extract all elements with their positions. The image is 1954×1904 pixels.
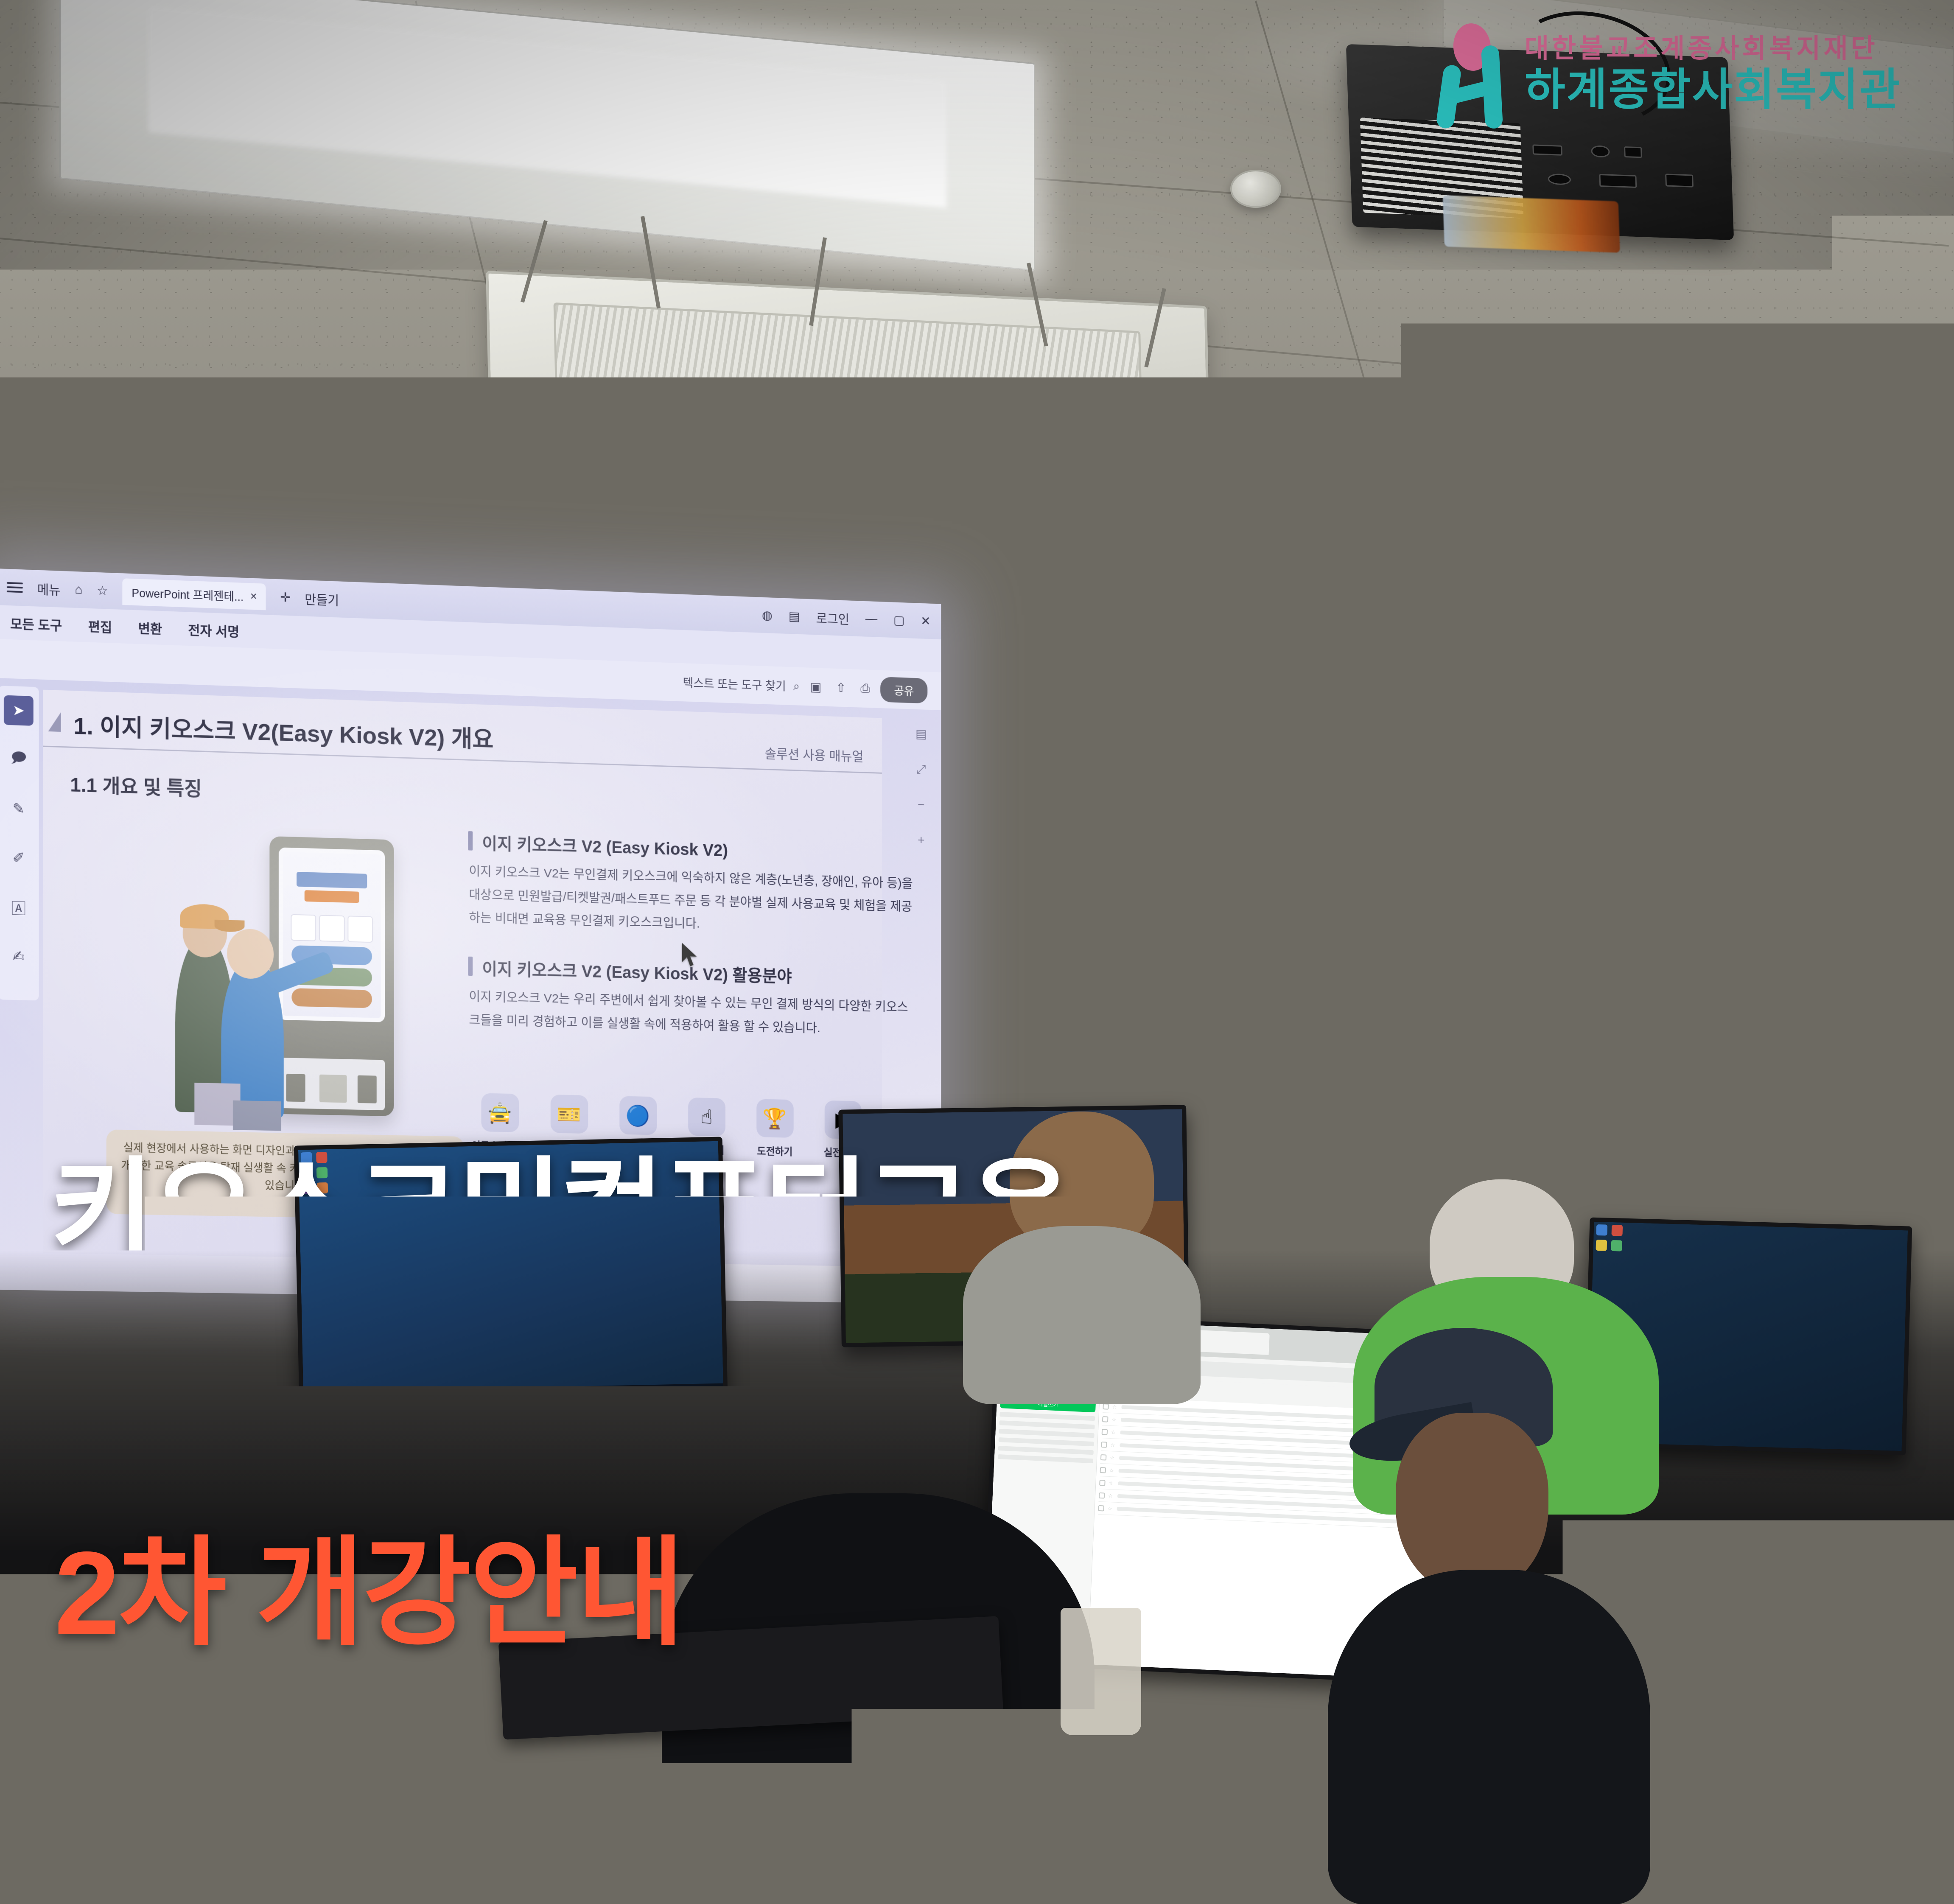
kiosk-product-cell[interactable]: ⌕ (1547, 1000, 1615, 1061)
logo-center-line: 하계종합사회복지관 (1525, 68, 1901, 112)
kiosk-pagination: ‹ 이전 다음 › (1335, 1064, 1619, 1094)
kiosk-header: 학습 종료 메가커피 자유학습 🔊 음성안내 (1332, 810, 1616, 853)
sound-label: 음성안내 (1592, 839, 1614, 848)
desktop-icon-grid (1596, 1224, 1623, 1252)
new-tab-label[interactable]: 만들기 (305, 589, 339, 609)
student-body-dark (1328, 1570, 1650, 1904)
magnify-icon[interactable]: ⌕ (1537, 1004, 1542, 1014)
drink-cup-icon (1363, 953, 1380, 983)
wall-outlet (1833, 967, 1888, 1008)
student-head-capped (1396, 1413, 1548, 1595)
folder-item[interactable] (999, 1412, 1095, 1421)
kiosk-category[interactable]: 음료 (1475, 893, 1511, 905)
magnify-icon[interactable]: ⌕ (1397, 1006, 1403, 1016)
drink-cup-icon (1363, 1016, 1381, 1046)
home-label: 처음으로 (1352, 865, 1378, 876)
power-label: 학습 종료 (1334, 843, 1358, 851)
kiosk-category[interactable]: 디카페인 (1439, 894, 1475, 906)
taxi-icon: 🚖 (481, 1093, 519, 1132)
block-body: 이지 키오스크 V2는 무인결제 키오스크에 익숙하지 않은 계층(노년층, 장… (469, 860, 915, 941)
touch-icon: ☝ (688, 1098, 725, 1137)
headline-line-1: 키오스크및컴퓨터교육 (50, 1154, 1408, 1270)
folder-item[interactable] (999, 1429, 1094, 1438)
ceiling-speaker-icon (1727, 352, 1867, 428)
block-heading: 이지 키오스크 V2 (Easy Kiosk V2) 활용분야 (482, 955, 792, 987)
upload-icon[interactable]: ⇧ (836, 680, 846, 695)
zoom-out-icon[interactable]: − (918, 798, 925, 812)
textbox-tool-icon[interactable]: 🄰 (4, 892, 34, 923)
star-icon[interactable]: ☆ (97, 583, 108, 598)
block-accent-bar (468, 957, 473, 976)
save-icon[interactable]: ▣ (810, 680, 821, 694)
zoom-in-icon[interactable]: + (918, 833, 925, 848)
acrobat-right-toolbar: ▤ ⤢ − + (907, 726, 935, 848)
kiosk-product-cell[interactable]: ⌕ 우리 아메리카노 1,800원 (1407, 939, 1475, 1000)
magnify-icon[interactable]: ⌕ (1467, 1005, 1472, 1015)
illustration-kiosk-base (279, 1058, 385, 1110)
slide-illustration (144, 828, 427, 1129)
hamburger-menu-icon[interactable] (7, 580, 23, 595)
pen-tool-icon[interactable]: ✎ (4, 794, 34, 824)
kiosk-selected-row: 선택한 상품 0 개 (1473, 1128, 1613, 1146)
folder-item[interactable] (999, 1420, 1095, 1429)
glasses-icon (1184, 891, 1265, 915)
kiosk-language-button[interactable]: 🌐 LANGUAGE (1547, 860, 1611, 876)
exit-sign: EXIT (1701, 670, 1828, 717)
kiosk-category[interactable]: 커피 (1404, 895, 1440, 907)
share-button[interactable]: 공유 (880, 677, 927, 703)
search-placeholder: 텍스트 또는 도구 찾기 (683, 674, 786, 694)
kiosk-active-tab-row: 신메뉴 (1333, 910, 1617, 938)
selected-label: 선택한 상품 (1473, 1133, 1514, 1145)
ticket-icon: 🎫 (550, 1095, 588, 1134)
drink-cup-icon (1503, 1014, 1520, 1044)
kiosk-product-cell[interactable]: ⌕ (1408, 1002, 1475, 1063)
maximize-button[interactable]: ▢ (893, 613, 905, 627)
drink-cup-icon (1502, 951, 1519, 981)
kiosk-brand-name: 메가엠지씨커피 (1433, 860, 1516, 879)
kiosk-brand-bar: ⌂ 처음으로 메가엠지씨커피 🌐 LANGUAGE (1333, 849, 1616, 889)
kiosk-category[interactable]: 추천메뉴 (1369, 895, 1404, 907)
organization-logo: 대한불교조계종사회복지재단 하계종합사회복지관 (1437, 14, 1938, 133)
monitor-base (437, 1476, 573, 1494)
menu-item-esign[interactable]: 전자 서명 (188, 619, 239, 640)
menu-label[interactable]: 메뉴 (37, 579, 61, 599)
signin-button[interactable]: 로그인 (816, 608, 849, 627)
monitor-stand (479, 1436, 526, 1483)
signature-tool-icon[interactable]: ✍ (4, 941, 34, 972)
slide-title: 1. 이지 키오스크 V2(Easy Kiosk V2) 개요 (73, 707, 493, 755)
selected-count: 0 개 (1598, 1131, 1613, 1144)
language-label: LANGUAGE (1565, 863, 1605, 872)
close-icon[interactable]: × (250, 590, 257, 603)
help-circle-icon[interactable]: ◍ (762, 608, 773, 623)
kiosk-title: 메가커피 자유학습 (1417, 820, 1531, 843)
home-icon: ⌂ (1344, 867, 1348, 875)
kiosk-product-cell[interactable]: ⌕ (1478, 1001, 1545, 1062)
kiosk-product-cell[interactable]: ⌕ 아이스 아메리카노 1,500원 (1337, 940, 1405, 1001)
product-price: 2,000원 (1478, 989, 1544, 997)
kiosk-category[interactable]: 신메뉴 (1333, 896, 1369, 907)
ceiling-aircon-unit (486, 271, 1211, 510)
bell-icon[interactable]: ▤ (789, 609, 800, 624)
headline-line-2: (오전반 / 오후반) (50, 1271, 1408, 1386)
illustration-kiosk-screen (279, 847, 385, 1022)
order-icon: 🔵 (619, 1096, 657, 1135)
fit-page-icon[interactable]: ⤢ (916, 762, 926, 777)
slide-triangle-decor (48, 712, 61, 732)
kiosk-product-cell[interactable]: ⌕ 콜드브루 아메리카노 2,000원 (1477, 938, 1545, 1000)
menu-item-edit[interactable]: 편집 (88, 616, 112, 636)
folder-item[interactable] (998, 1454, 1093, 1463)
magnify-icon[interactable]: ⌕ (1397, 943, 1402, 953)
category-badge: 하계소식 ㅣ 1팀사업 (8, 1693, 904, 1820)
comment-tool-icon[interactable]: 🗩 (4, 745, 34, 775)
kiosk-product-cell[interactable]: ⌕ (1338, 1003, 1406, 1064)
folder-item[interactable] (999, 1437, 1094, 1446)
headline-line-3: 2차 개강안내 (54, 1498, 683, 1668)
kiosk-category[interactable]: 통도 (1546, 893, 1582, 904)
kiosk-prev-button[interactable]: ‹ 이전 (1341, 1071, 1376, 1090)
poster-headline: 키오스크및컴퓨터교육 (오전반 / 오후반) (50, 1154, 1408, 1387)
search-icon[interactable]: ⌕ (793, 679, 800, 693)
magnify-icon[interactable]: ⌕ (1607, 1003, 1612, 1013)
menu-item-convert[interactable]: 변환 (138, 618, 162, 638)
illustration-legs-b (233, 1100, 281, 1131)
pay-label: 주문 / 결제하기 (1501, 1154, 1550, 1166)
product-price: 1,800원 (1408, 990, 1475, 998)
print-icon[interactable]: ⎙ (860, 681, 870, 696)
block-heading: 이지 키오스크 V2 (Easy Kiosk V2) (482, 830, 728, 861)
wall-outlet (1833, 908, 1888, 949)
trophy-icon: 🏆 (756, 1099, 793, 1138)
magnify-icon[interactable]: ⌕ (1536, 941, 1541, 951)
kiosk-active-tab[interactable]: 신메뉴 (1333, 913, 1442, 938)
projector-ports (1528, 138, 1714, 207)
block-accent-bar (468, 831, 473, 851)
slide-subtitle: 1.1 개요 및 특징 (70, 769, 202, 801)
kiosk-category[interactable]: 상품 (1582, 892, 1617, 904)
kiosk-next-button[interactable]: 다음 › (1579, 1068, 1614, 1086)
tab-title: PowerPoint 프레젠테... (132, 583, 244, 604)
wall-outlet (1761, 963, 1816, 1004)
magnify-icon[interactable]: ⌕ (1467, 942, 1472, 952)
kiosk-home-button[interactable]: ⌂ 처음으로 (1338, 862, 1384, 880)
magnify-icon[interactable]: ⌕ (1606, 941, 1611, 950)
pay-cup-icon (1479, 1151, 1497, 1169)
search-field[interactable]: 텍스트 또는 도구 찾기 ⌕ (683, 674, 800, 695)
drink-cup-icon (1433, 1015, 1450, 1045)
smoke-detector-icon (1230, 170, 1281, 208)
panel-toggle-icon[interactable]: ▤ (915, 727, 927, 742)
paper-cup (1061, 1608, 1141, 1735)
speaker-icon[interactable]: 🔊 (1587, 815, 1610, 839)
drink-cup-icon (1573, 1013, 1590, 1043)
slide-manual-tag: 솔루션 사용 매뉴얼 (765, 743, 864, 765)
document-tab[interactable]: PowerPoint 프레젠테... × (123, 578, 266, 610)
globe-icon: 🌐 (1553, 864, 1562, 872)
acrobat-left-toolbar: ➤ 🗩 ✎ ✐ 🄰 ✍ (0, 686, 39, 1000)
projector-lens (1443, 195, 1620, 252)
kiosk-product-cell[interactable]: ⌕ 헤이즐넛 아메리카노 1,900원 (1546, 937, 1614, 998)
kiosk-product-grid: ⌕ 아이스 아메리카노 1,500원 ⌕ 우리 아메리카노 1,800원 ⌕ (1334, 934, 1619, 1067)
badge-label: 하계소식 ㅣ 1팀사업 (85, 1717, 535, 1796)
folder-item[interactable] (998, 1446, 1094, 1455)
kiosk-pay-button[interactable]: 주문 / 결제하기 (1473, 1146, 1614, 1173)
h-figure-logo-icon (1437, 21, 1518, 127)
home-icon[interactable]: ⌂ (75, 582, 82, 597)
logo-org-line: 대한불교조계종사회복지재단 (1525, 36, 1901, 62)
minimize-button[interactable]: — (865, 612, 877, 626)
wall-outlet (1761, 904, 1816, 944)
badge-dot-icon (806, 1742, 836, 1771)
power-icon[interactable] (1338, 819, 1361, 842)
product-price: 1,900원 (1548, 988, 1614, 996)
kiosk-screen[interactable]: 학습 종료 메가커피 자유학습 🔊 음성안내 ⌂ 처음으로 메가엠지씨커피 🌐 … (1332, 810, 1621, 1198)
select-tool-icon[interactable]: ➤ (4, 695, 34, 726)
plus-icon[interactable]: ✛ (280, 590, 291, 605)
kiosk-category-bar: 신메뉴 추천메뉴 커피 디카페인 음료 차 통도 상품 (1333, 885, 1617, 914)
block-body: 이지 키오스크 V2는 우리 주변에서 쉽게 찾아볼 수 있는 무인 결제 방식… (469, 985, 915, 1042)
close-button[interactable]: ✕ (921, 614, 931, 629)
drink-cup-icon (1572, 950, 1589, 980)
drink-cup-icon (1432, 952, 1450, 982)
highlight-tool-icon[interactable]: ✐ (4, 843, 34, 874)
product-price: 1,500원 (1338, 991, 1405, 999)
timer-label: 남은시간 (1522, 1105, 1570, 1117)
kiosk-category[interactable]: 차 (1510, 893, 1546, 905)
poster-canvas: EXIT 메뉴 ⌂ ☆ PowerPoint 프레젠테... × ✛ 만들기 ◍… (0, 0, 1954, 1904)
menu-item-all-tools[interactable]: 모든 도구 (10, 613, 62, 634)
